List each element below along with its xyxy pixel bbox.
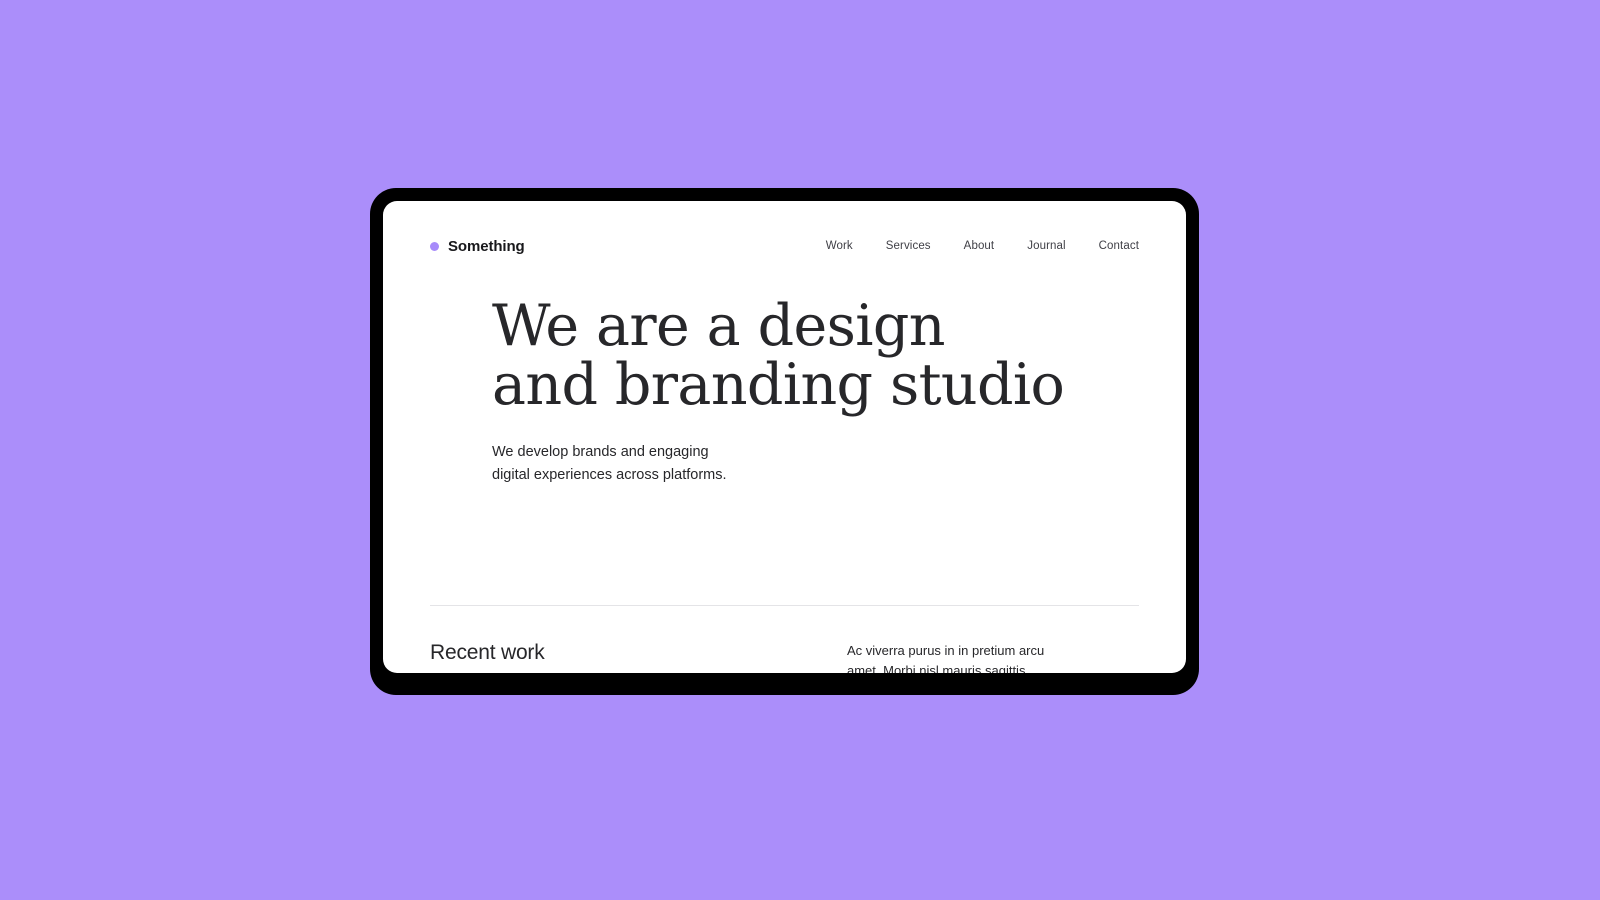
brand-name: Something <box>448 238 525 255</box>
nav-item-journal[interactable]: Journal <box>1027 240 1065 252</box>
recent-work-heading: Recent work <box>430 641 545 665</box>
nav-item-about[interactable]: About <box>964 240 995 252</box>
nav-item-services[interactable]: Services <box>886 240 931 252</box>
tablet-device-frame: Something Work Services About Journal Co… <box>370 188 1199 695</box>
device-screen: Something Work Services About Journal Co… <box>383 201 1186 673</box>
hero-section: We are a design and branding studio We d… <box>430 269 1139 486</box>
hero-headline: We are a design and branding studio <box>492 297 1139 414</box>
main-navigation: Work Services About Journal Contact <box>826 240 1139 252</box>
section-divider <box>430 605 1139 606</box>
site-header: Something Work Services About Journal Co… <box>430 201 1139 269</box>
nav-item-contact[interactable]: Contact <box>1099 240 1139 252</box>
brand-dot-icon <box>430 242 439 251</box>
brand-logo[interactable]: Something <box>430 238 525 255</box>
website-page: Something Work Services About Journal Co… <box>383 201 1186 673</box>
nav-item-work[interactable]: Work <box>826 240 853 252</box>
canvas: Something Work Services About Journal Co… <box>0 0 1600 900</box>
recent-work-section: Recent work Ac viverra purus in in preti… <box>430 641 1139 673</box>
recent-work-paragraph: Ac viverra purus in in pretium arcu amet… <box>847 641 1059 673</box>
hero-subtitle: We develop brands and engaging digital e… <box>492 441 1139 486</box>
